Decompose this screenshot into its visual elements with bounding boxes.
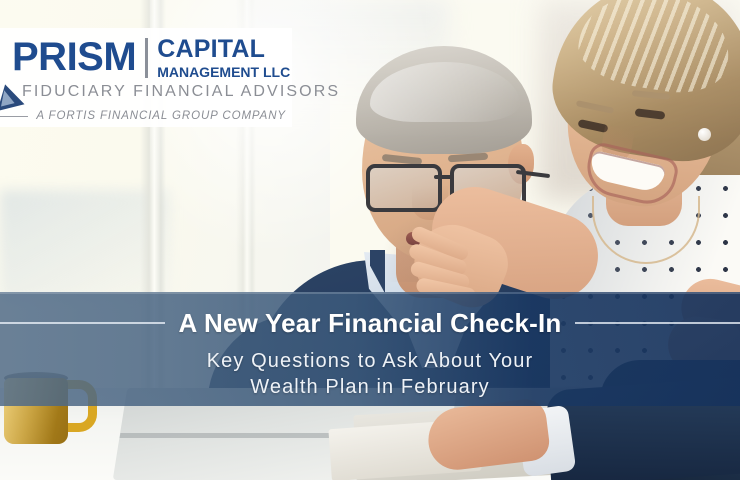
logo-management-text: MANAGEMENT LLC [157,64,290,80]
banner-subtitle: Key Questions to Ask About Your Wealth P… [0,348,740,400]
banner-graphic: PRISM CAPITAL MANAGEMENT LLC FIDUCIARY F… [0,0,740,480]
title-rule-left [0,322,165,324]
logo-brand-secondary: CAPITAL MANAGEMENT LLC [157,36,290,80]
company-logo: PRISM CAPITAL MANAGEMENT LLC FIDUCIARY F… [0,28,292,127]
banner-title-row: A New Year Financial Check-In [0,306,740,340]
logo-rule [0,116,28,117]
logo-divider [145,38,148,78]
title-rule-right [575,322,740,324]
glasses-bridge [434,175,454,179]
banner-subtitle-line2: Wealth Plan in February [0,374,740,400]
banner-title: A New Year Financial Check-In [179,308,562,338]
logo-capital-text: CAPITAL [157,37,290,62]
logo-brand-primary: PRISM [12,36,136,78]
logo-plate: PRISM CAPITAL MANAGEMENT LLC FIDUCIARY F… [0,28,292,127]
logo-tagline: FIDUCIARY FINANCIAL ADVISORS [22,83,340,101]
logo-wordmark: PRISM CAPITAL MANAGEMENT LLC [12,36,290,80]
logo-parent-row: A FORTIS FINANCIAL GROUP COMPANY [0,110,286,122]
glasses-lens-left [366,164,442,212]
woman-earring [698,128,711,141]
banner-subtitle-line1: Key Questions to Ask About Your [0,348,740,374]
title-banner: A New Year Financial Check-In Key Questi… [0,292,740,406]
banner-top-rule [0,292,740,294]
logo-parent-company: A FORTIS FINANCIAL GROUP COMPANY [36,110,286,122]
